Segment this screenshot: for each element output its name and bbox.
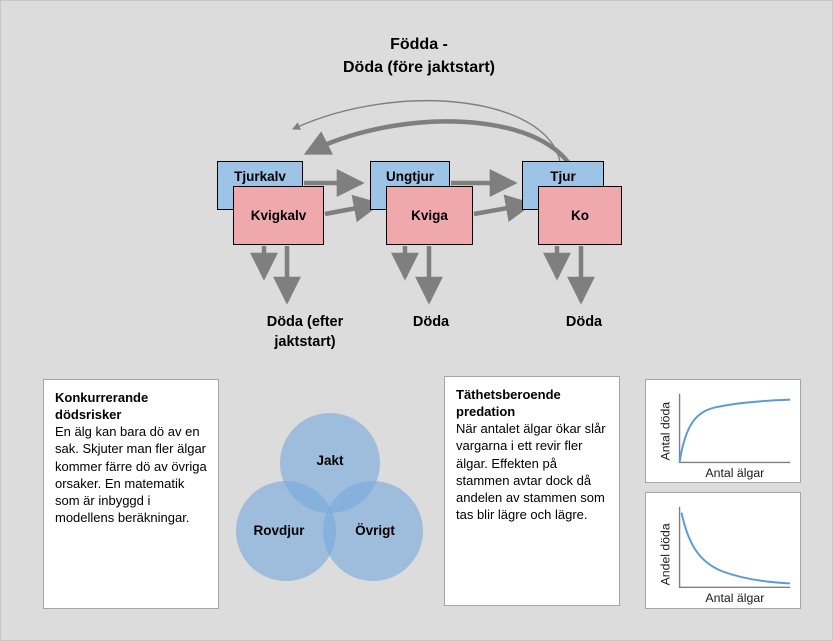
- chart-relative-mortality: Andel döda Antal älgar: [645, 492, 801, 609]
- node-kvigkalv[interactable]: Kvigkalv: [233, 186, 324, 245]
- chart-top-curve: [680, 400, 791, 463]
- chart-bot-ylabel: Andel döda: [659, 523, 673, 585]
- panel-left-heading: Konkurrerande dödsrisker: [55, 389, 207, 423]
- node-ko[interactable]: Ko: [538, 186, 622, 245]
- chart-absolute-mortality: Antal döda Antal älgar: [645, 379, 801, 483]
- death-label-2: Döda: [371, 313, 491, 333]
- death-label-1: Döda (efter jaktstart): [215, 313, 395, 352]
- chart-bot-xlabel: Antal älgar: [705, 591, 764, 605]
- cycle-title: Födda - Döda (före jaktstart): [269, 33, 569, 79]
- feedback-curve-male: [293, 101, 561, 169]
- diagram-canvas: Födda - Döda (före jaktstart) Tjurkalv U…: [0, 0, 833, 641]
- panel-competing-mortality: Konkurrerande dödsrisker En älg kan bara…: [43, 379, 219, 609]
- chart-bot-curve: [682, 513, 791, 584]
- chart-top-ylabel: Antal döda: [659, 402, 673, 461]
- venn-label-jakt: Jakt: [280, 453, 380, 468]
- panel-left-body: En älg kan bara dö av en sak. Skjuter ma…: [55, 423, 207, 526]
- venn-label-rovdjur: Rovdjur: [229, 523, 329, 538]
- venn-label-ovrigt: Övrigt: [325, 523, 425, 538]
- node-kviga[interactable]: Kviga: [386, 186, 473, 245]
- panel-density-dependent-predation: Täthetsberoende predation När antalet äl…: [444, 376, 620, 606]
- panel-mid-body: När antalet älgar ökar slår vargarna i e…: [456, 420, 608, 523]
- panel-mid-heading: Täthetsberoende predation: [456, 386, 608, 420]
- chart-top-xlabel: Antal älgar: [705, 466, 764, 480]
- venn-diagram: Jakt Rovdjur Övrigt: [233, 413, 423, 588]
- death-label-3: Döda: [524, 313, 644, 333]
